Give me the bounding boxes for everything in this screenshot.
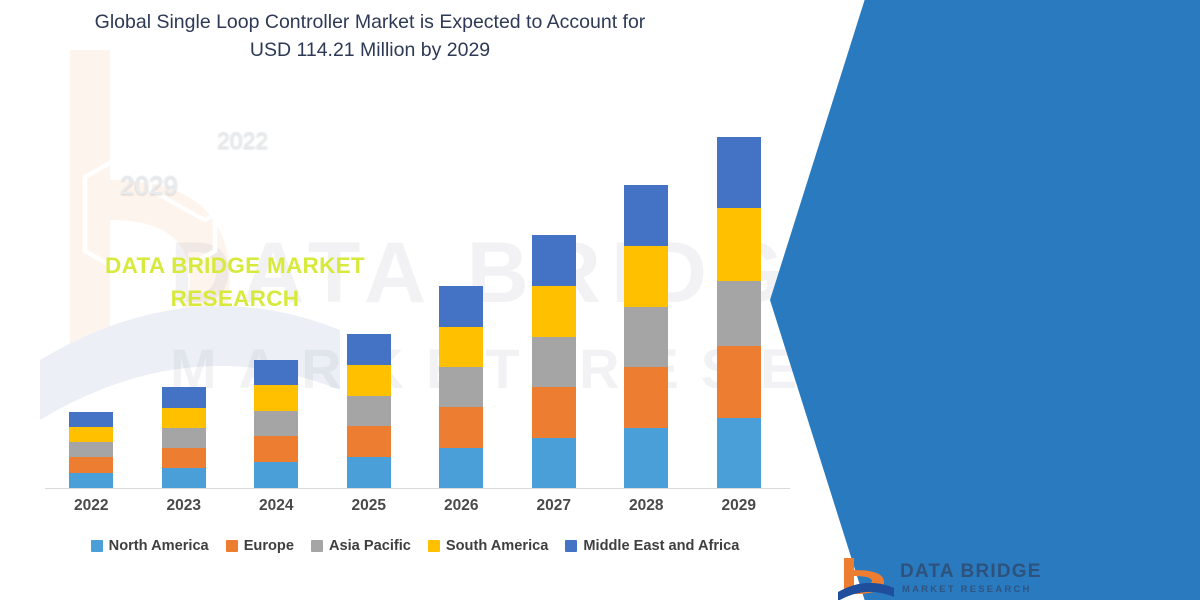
bar-segment — [162, 428, 206, 448]
bar-segment — [624, 307, 668, 367]
bar-segment — [624, 428, 668, 489]
stacked-bar — [162, 387, 206, 488]
legend-item[interactable]: Middle East and Africa — [565, 538, 739, 554]
bar-segment — [347, 365, 391, 396]
legend-label: North America — [109, 538, 209, 554]
legend-label: South America — [446, 538, 548, 554]
stacked-bar — [717, 137, 761, 488]
x-axis-label: 2022 — [47, 497, 135, 515]
bar-segment — [69, 427, 113, 442]
bar-segment — [69, 457, 113, 473]
bar-segment — [347, 396, 391, 426]
bar-segment — [717, 137, 761, 208]
legend-item[interactable]: Europe — [226, 538, 294, 554]
hexagon-group: 2029 2022 — [75, 95, 375, 265]
x-axis-label: 2025 — [325, 497, 413, 515]
bar-segment — [347, 426, 391, 457]
stacked-bar — [624, 185, 668, 488]
brand-line2: RESEARCH — [171, 286, 300, 311]
legend-swatch-icon — [311, 540, 323, 552]
stacked-bar — [347, 334, 391, 488]
bar-segment — [439, 448, 483, 489]
right-blue-panel — [770, 0, 1200, 600]
panel-heading: Market, By Regions, 2022 to 2029 — [55, 0, 415, 11]
x-axis-label: 2023 — [140, 497, 228, 515]
bar-segment — [439, 327, 483, 368]
bar-segment — [532, 286, 576, 337]
hexagon-label-2022: 2022 — [217, 127, 268, 154]
bar-segment — [69, 412, 113, 427]
stacked-bar — [254, 360, 298, 488]
x-axis-labels: 20222023202420252026202720282029 — [45, 497, 785, 515]
bar-segment — [717, 208, 761, 281]
chart-title-line2: USD 114.21 Million by 2029 — [250, 39, 490, 61]
legend-swatch-icon — [226, 540, 238, 552]
bar-segment — [439, 286, 483, 327]
bar-segment — [624, 185, 668, 246]
footer-logo: DATA BRIDGE MARKET RESEARCH — [838, 556, 1098, 600]
bar-segment — [162, 468, 206, 488]
legend-swatch-icon — [565, 540, 577, 552]
bar-segment — [439, 367, 483, 407]
chart-title-line1: Global Single Loop Controller Market is … — [95, 11, 646, 33]
bar-segment — [162, 408, 206, 428]
bar-column — [695, 100, 783, 488]
bar-segment — [69, 442, 113, 457]
bar-segment — [254, 360, 298, 385]
panel-heading-text: Market, By Regions, 2022 to 2029 — [91, 0, 378, 7]
bar-segment — [624, 367, 668, 428]
hexagon-2022-shape — [150, 100, 260, 220]
bar-segment — [162, 387, 206, 408]
chart-title: Global Single Loop Controller Market is … — [20, 8, 720, 65]
bar-column — [602, 100, 690, 488]
brand-name: DATA BRIDGE MARKET RESEARCH — [50, 250, 420, 315]
bar-segment — [439, 407, 483, 448]
footer-bridge-logo-icon — [838, 556, 894, 600]
brand-line1: DATA BRIDGE MARKET — [105, 253, 365, 278]
legend-label: Middle East and Africa — [583, 538, 739, 554]
bar-column — [510, 100, 598, 488]
bar-segment — [254, 462, 298, 488]
x-axis-label: 2029 — [695, 497, 783, 515]
bar-segment — [347, 457, 391, 488]
legend-swatch-icon — [91, 540, 103, 552]
x-axis-label: 2026 — [417, 497, 505, 515]
bar-segment — [162, 448, 206, 469]
bar-segment — [717, 346, 761, 418]
legend-label: Europe — [244, 538, 294, 554]
x-axis-label: 2024 — [232, 497, 320, 515]
stacked-bar — [69, 412, 113, 488]
legend-item[interactable]: North America — [91, 538, 209, 554]
legend-swatch-icon — [428, 540, 440, 552]
legend-label: Asia Pacific — [329, 538, 411, 554]
legend-item[interactable]: South America — [428, 538, 548, 554]
stacked-bar — [532, 235, 576, 488]
bar-column — [417, 100, 505, 488]
hexagon-label-2029: 2029 — [120, 170, 178, 201]
bar-segment — [69, 473, 113, 489]
bar-segment — [532, 235, 576, 286]
bar-segment — [717, 418, 761, 488]
x-axis-line — [45, 488, 790, 489]
bar-segment — [254, 385, 298, 411]
footer-logo-sub: MARKET RESEARCH — [902, 584, 1032, 595]
bar-segment — [347, 334, 391, 365]
stacked-bar — [439, 286, 483, 488]
bar-segment — [254, 411, 298, 437]
bar-segment — [624, 246, 668, 307]
x-axis-label: 2028 — [602, 497, 690, 515]
bar-segment — [532, 438, 576, 489]
infographic-root: DATA BRIDGE MARKET RESEARCH Global Singl… — [0, 0, 1200, 600]
chart-legend: North AmericaEuropeAsia PacificSouth Ame… — [45, 538, 785, 554]
legend-item[interactable]: Asia Pacific — [311, 538, 411, 554]
bar-segment — [532, 337, 576, 387]
bar-segment — [254, 436, 298, 462]
footer-logo-text: DATA BRIDGE — [900, 561, 1042, 583]
bar-segment — [532, 387, 576, 438]
bar-segment — [717, 281, 761, 346]
x-axis-label: 2027 — [510, 497, 598, 515]
